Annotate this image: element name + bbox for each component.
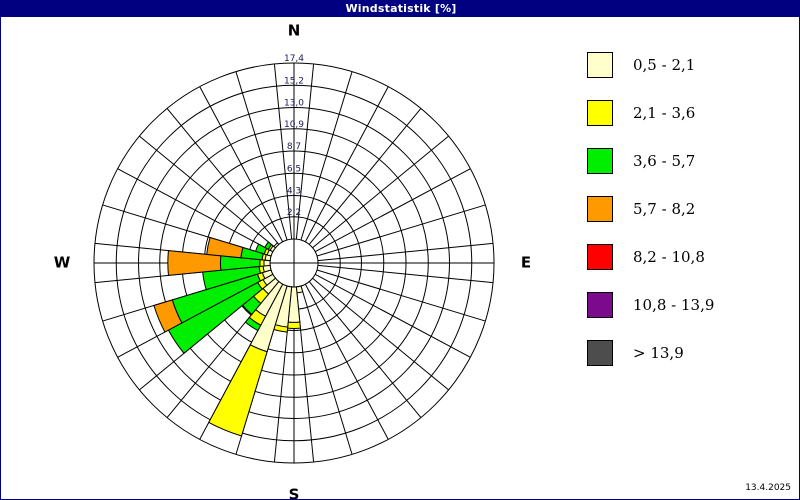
grid-spoke xyxy=(309,282,421,418)
legend-color-swatch xyxy=(587,148,613,174)
legend-item-label: 10,8 - 13,9 xyxy=(633,296,714,314)
legend-item-label: > 13,9 xyxy=(633,344,684,362)
radial-tick-label: 2,2 xyxy=(287,208,301,218)
grid-spoke xyxy=(139,136,275,248)
legend-item-label: 0,5 - 2,1 xyxy=(633,56,695,74)
legend-item[interactable]: 8,2 - 10,8 xyxy=(587,233,787,281)
cardinal-label-w: W xyxy=(54,254,71,272)
radial-tick-label: 6,5 xyxy=(287,164,301,174)
legend-item-label: 5,7 - 8,2 xyxy=(633,200,695,218)
speed-bin-legend: 0,5 - 2,12,1 - 3,63,6 - 5,75,7 - 8,28,2 … xyxy=(587,41,787,377)
legend-color-swatch xyxy=(587,100,613,126)
wind-rose-segment xyxy=(288,322,301,328)
legend-item-label: 2,1 - 3,6 xyxy=(633,104,695,122)
radial-tick-label: 4,3 xyxy=(287,187,301,197)
legend-color-swatch xyxy=(587,340,613,366)
grid-spoke xyxy=(167,108,279,244)
grid-spoke xyxy=(313,278,449,390)
legend-color-swatch xyxy=(587,196,613,222)
legend-color-swatch xyxy=(587,52,613,78)
legend-color-swatch xyxy=(587,292,613,318)
grid-spoke xyxy=(315,274,470,357)
cardinal-label-s: S xyxy=(289,486,300,500)
grid-spoke xyxy=(118,169,273,252)
grid-spoke xyxy=(236,72,287,240)
window-titlebar: Windstatistik [%] xyxy=(1,1,800,17)
radial-tick-label: 17,4 xyxy=(284,54,304,64)
legend-color-swatch xyxy=(587,244,613,270)
grid-spoke xyxy=(315,169,470,252)
grid-spoke xyxy=(305,284,388,439)
grid-spoke xyxy=(309,108,421,244)
windstatistik-window: Windstatistik [%] 2,24,36,58,710,913,015… xyxy=(0,0,800,500)
legend-item-label: 8,2 - 10,8 xyxy=(633,248,705,266)
wind-rose-segment xyxy=(260,260,264,267)
grid-spoke xyxy=(313,136,449,248)
radial-tick-label: 10,9 xyxy=(284,120,304,130)
legend-item[interactable]: 5,7 - 8,2 xyxy=(587,185,787,233)
legend-item[interactable]: 3,6 - 5,7 xyxy=(587,137,787,185)
date-stamp: 13.4.2025 xyxy=(745,483,791,493)
grid-spoke xyxy=(301,286,352,454)
cardinal-label-e: E xyxy=(521,254,531,272)
grid-spoke xyxy=(200,87,283,242)
legend-item[interactable]: > 13,9 xyxy=(587,329,787,377)
grid-spoke xyxy=(301,72,352,240)
cardinal-direction-labels: NESW xyxy=(54,22,531,500)
grid-spoke xyxy=(317,270,485,321)
grid-spoke xyxy=(317,205,485,256)
radial-tick-label: 8,7 xyxy=(287,142,301,152)
legend-item[interactable]: 0,5 - 2,1 xyxy=(587,41,787,89)
legend-item[interactable]: 10,8 - 13,9 xyxy=(587,281,787,329)
radial-tick-label: 15,2 xyxy=(284,76,304,86)
grid-spoke xyxy=(305,87,388,242)
legend-item[interactable]: 2,1 - 3,6 xyxy=(587,89,787,137)
wind-rose-segment xyxy=(274,243,279,248)
radial-tick-label: 13,0 xyxy=(284,99,304,109)
wind-rose-segment xyxy=(209,345,267,436)
legend-item-label: 3,6 - 5,7 xyxy=(633,152,695,170)
cardinal-label-n: N xyxy=(288,22,301,40)
wind-rose-segment xyxy=(207,238,243,258)
